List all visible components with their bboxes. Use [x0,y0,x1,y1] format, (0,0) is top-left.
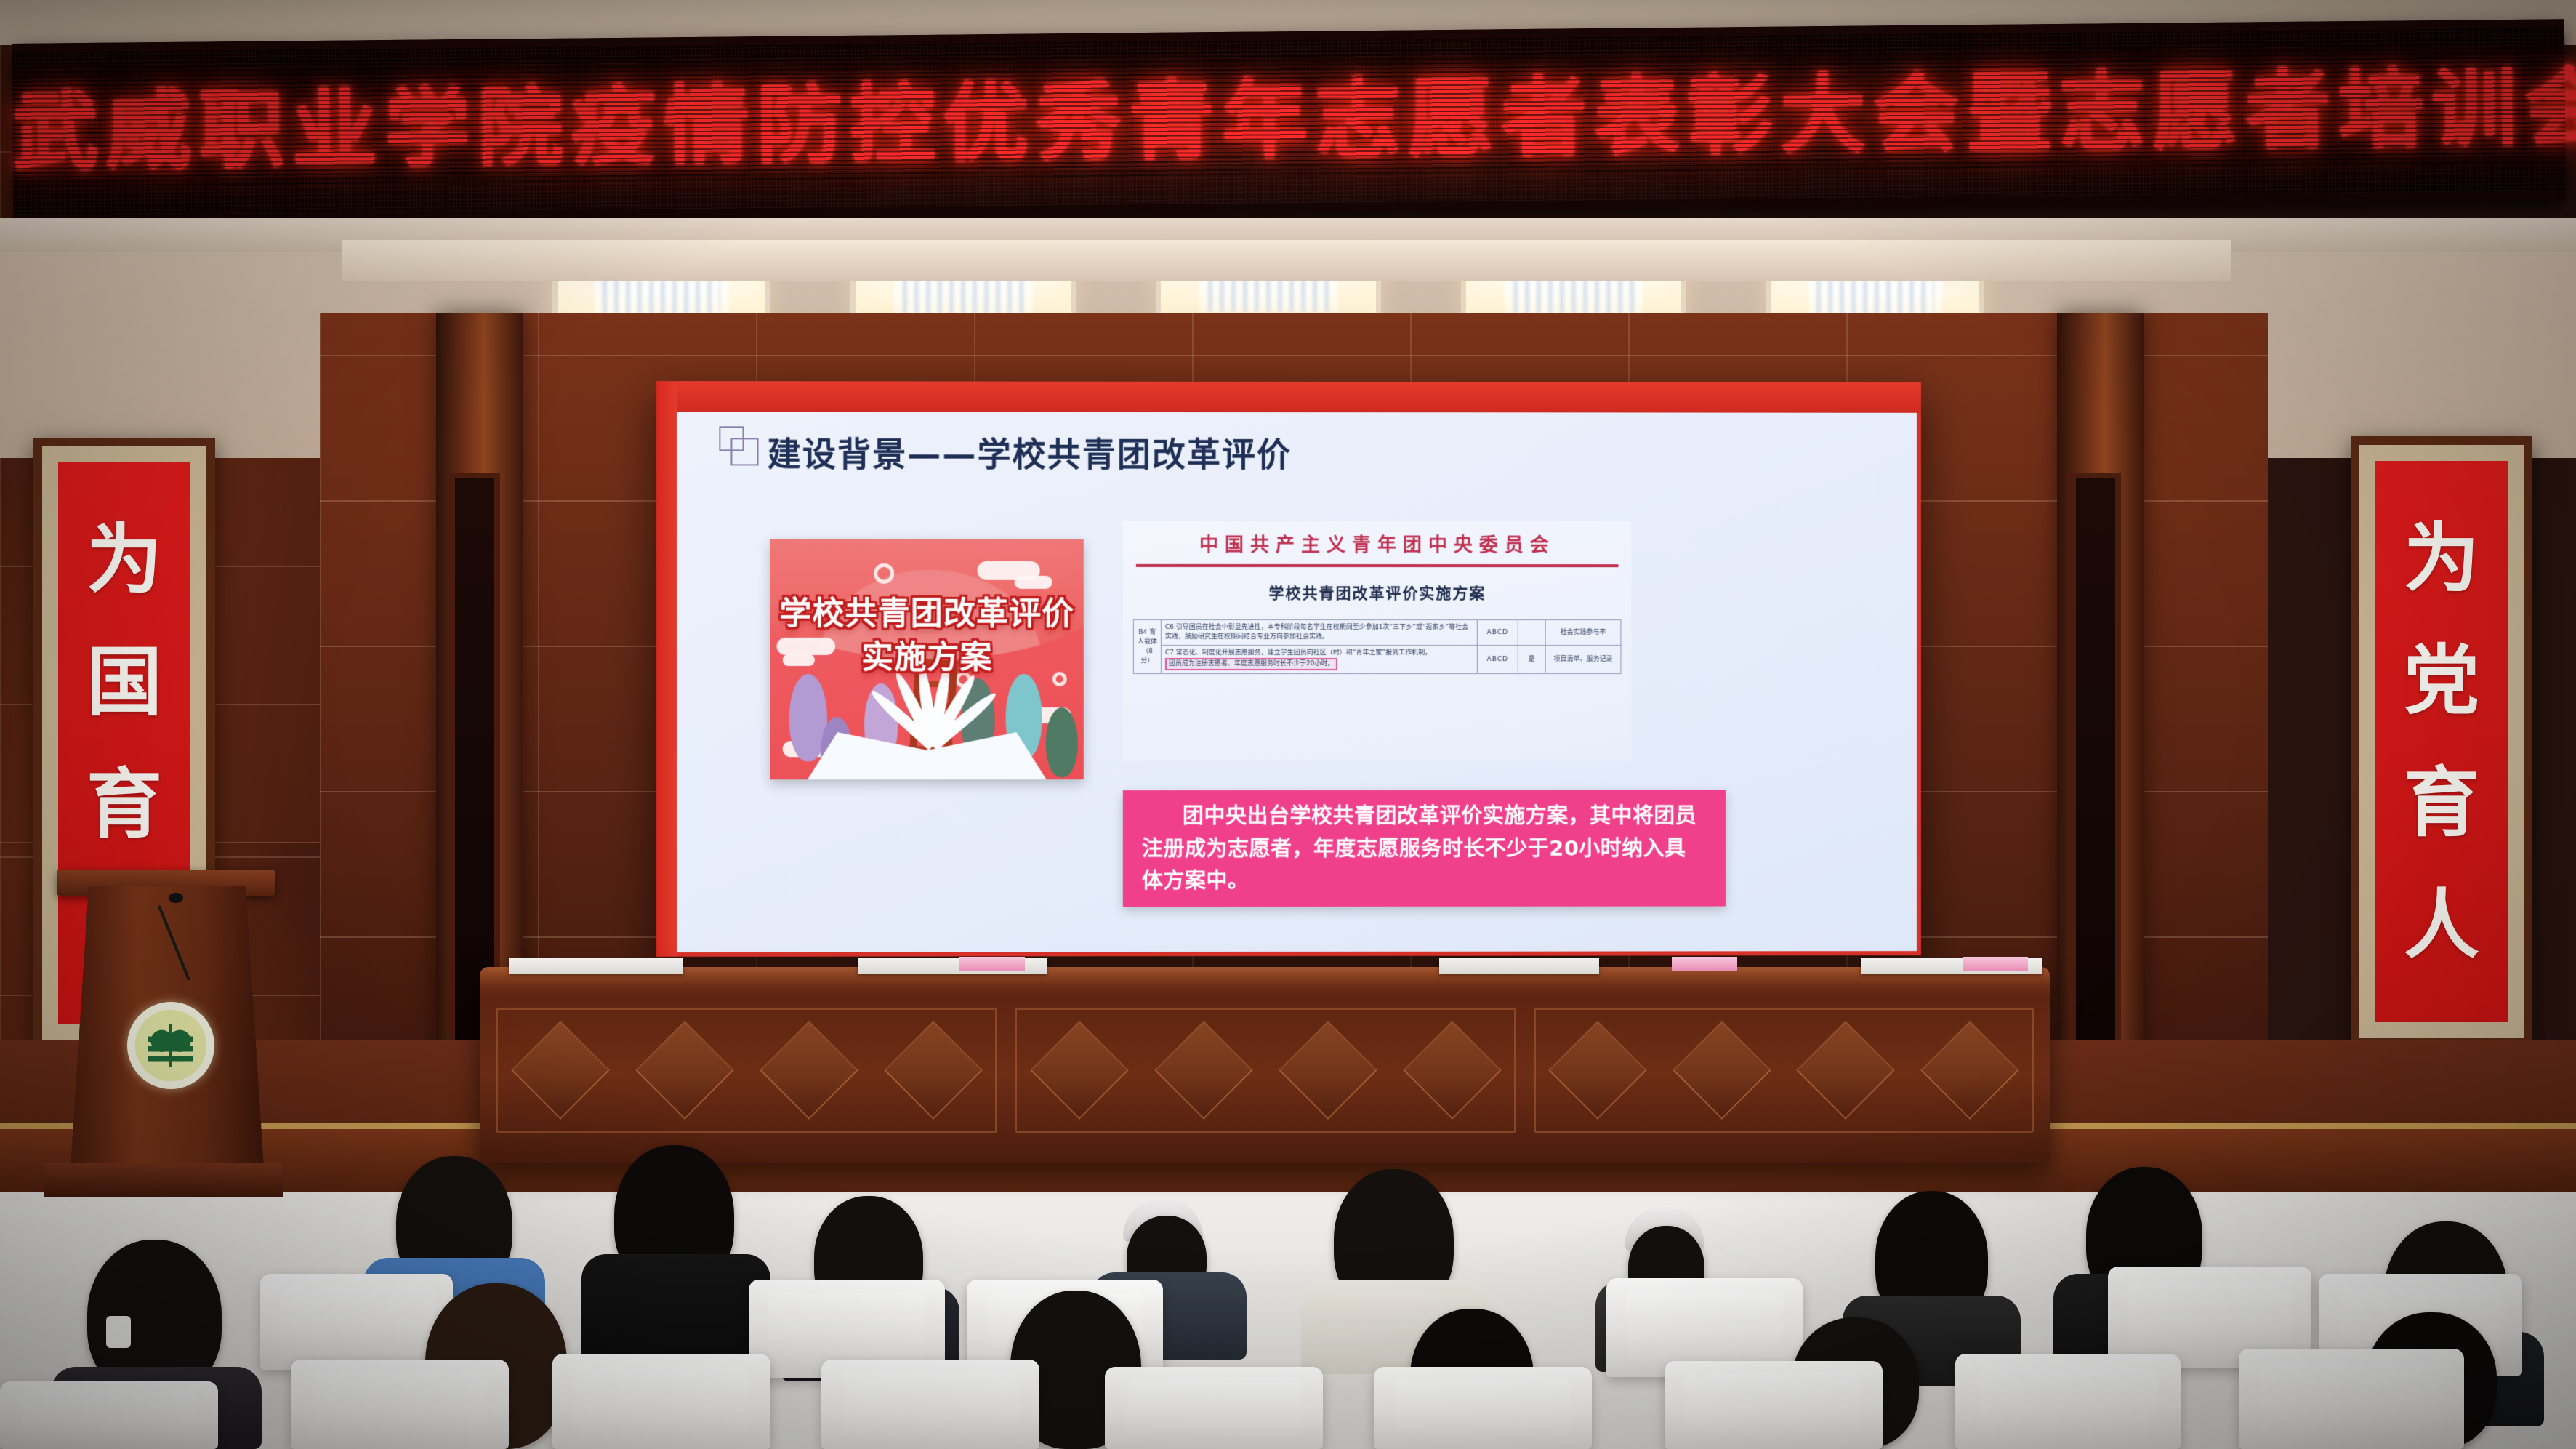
audience-chair [2239,1349,2464,1449]
table-cell-note: 社会实践参与率 [1545,620,1621,646]
auditorium-photo: 武威职业学院疫情防控优秀青年志愿者表彰大会暨志愿者培训会 为 国 育 才 为 党… [0,0,2576,1449]
document-red-rule [1136,564,1619,567]
podium-base [44,1163,283,1197]
table-cell-yes [1518,620,1545,646]
scroll-char-right-0: 为 [2404,521,2479,596]
slide-left-accent-bar [656,381,677,957]
school-crest-icon [127,1002,214,1089]
audience-chair [1665,1361,1883,1449]
scroll-char-right-3: 人 [2404,887,2479,963]
ceiling-upper-soffit [342,240,2231,281]
led-banner: 武威职业学院疫情防控优秀青年志愿者表彰大会暨志愿者培训会 [12,19,2566,225]
projection-screen: 建设背景——学校共青团改革评价 [656,381,1921,957]
audience-chair [291,1360,509,1449]
slide-callout-box: 团中央出台学校共青团改革评价实施方案，其中将团员注册成为志愿者，年度志愿服务时长… [1123,790,1726,907]
slide-document-image: 中国共产主义青年团中央委员会 学校共青团改革评价实施方案 B4 育人载体（8分）… [1123,521,1632,761]
head-table-panel-2 [1015,1008,1516,1133]
table-cell-code: ABCD [1477,646,1518,674]
slide-top-accent-bar [656,381,1921,413]
attendee-black-coat [581,1254,770,1363]
table-cell-note: 项目清单、服务记录 [1545,646,1621,674]
audience-chair [0,1381,218,1449]
wall-alcove-right [2070,473,2121,1069]
right-scroll-inner: 为 党 育 人 [2375,461,2508,1022]
right-red-scroll: 为 党 育 人 [2351,436,2532,1047]
scroll-char-right-1: 党 [2404,643,2479,718]
table-name-card-2 [1672,957,1737,971]
head-table-panel-3 [1534,1008,2034,1133]
document-org-title: 中国共产主义青年团中央委员会 [1123,521,1632,557]
slide-title-marker-icon [719,426,760,467]
led-banner-text: 武威职业学院疫情防控优秀青年志愿者表彰大会暨志愿者培训会 [12,38,2565,187]
slide-callout-text: 团中央出台学校共青团改革评价实施方案，其中将团员注册成为志愿者，年度志愿服务时长… [1123,799,1726,897]
scroll-char-left-1: 国 [86,644,162,720]
table-cell-highlight: 团员成为注册志愿者、年度志愿服务时长不少于20小时。 [1165,658,1338,670]
head-table [480,967,2050,1163]
attendee-face-mask [106,1316,131,1348]
table-name-card-3 [1963,957,2028,971]
audience-chair [1374,1367,1592,1449]
table-row: C7.常态化、制度化开展志愿服务，建立学生团员向社区（村）和“青年之家”报到工作… [1133,646,1621,674]
audience-chair [260,1274,453,1370]
audience-chair [1955,1354,2181,1449]
table-cell-code: ABCD [1477,620,1518,646]
slide-poster-image: 学校共青团改革评价 实施方案 [770,539,1084,780]
audience-chair [1105,1367,1323,1449]
table-name-card-1 [959,957,1025,971]
document-subtitle: 学校共青团改革评价实施方案 [1123,582,1632,603]
poster-title-line2: 实施方案 [770,631,1084,678]
scroll-char-right-2: 育 [2404,765,2479,840]
table-row: B4 育人载体（8分） C6.引导团员在社会中彰显先进性，本专科阶段每名学生在校… [1133,619,1621,645]
table-cell-body-pre: C7.常态化、制度化开展志愿服务，建立学生团员向社区（村）和“青年之家”报到工作… [1165,649,1431,657]
table-cell-body: C7.常态化、制度化开展志愿服务，建立学生团员向社区（村）和“青年之家”报到工作… [1161,646,1477,674]
table-cell-body: C6.引导团员在社会中彰显先进性，本专科阶段每名学生在校期间至少参加1次“三下乡… [1161,619,1477,645]
scroll-char-left-0: 为 [86,522,162,598]
table-papers-1 [509,958,683,974]
audience-chair [552,1354,770,1449]
slide-title: 建设背景——学校共青团改革评价 [768,428,1292,476]
poster-title-line1: 学校共青团改革评价 [770,587,1084,634]
presentation-slide: 建设背景——学校共青团改革评价 [677,412,1917,952]
document-table: B4 育人载体（8分） C6.引导团员在社会中彰显先进性，本专科阶段每名学生在校… [1133,619,1622,674]
table-papers-3 [1439,958,1599,974]
head-table-panel-1 [496,1008,997,1133]
audience-chair [821,1360,1039,1449]
table-cell-yes: 是 [1518,646,1545,674]
scroll-char-left-2: 育 [86,766,162,842]
table-cell-index: B4 育人载体（8分） [1133,619,1161,673]
microphone-icon [169,893,183,903]
head-table-lip [480,967,2050,986]
